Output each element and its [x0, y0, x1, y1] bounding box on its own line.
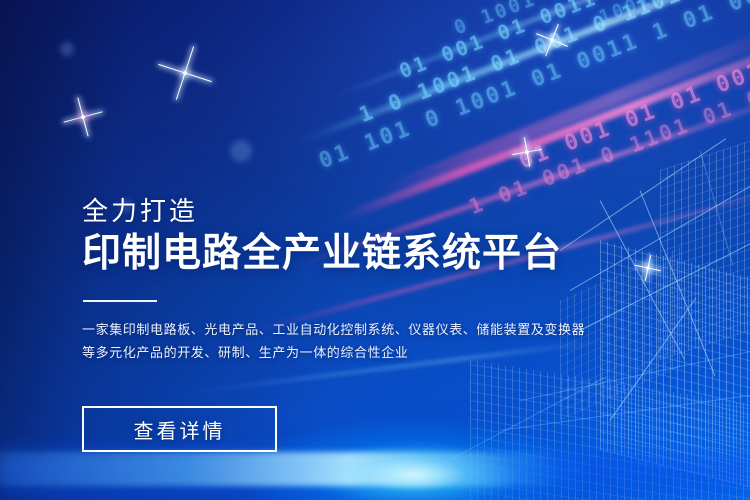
- divider-rule: [83, 300, 157, 302]
- headline-text: 印制电路全产业链系统平台: [82, 230, 682, 278]
- binary-row-cyan-3: 01 101 0 1001 01 0011 1 01 001: [316, 0, 750, 174]
- ray-magenta-4: [377, 29, 750, 199]
- light-streak: [0, 452, 560, 486]
- eyebrow-text: 全力打造: [82, 194, 682, 228]
- binary-row-cyan-4: 0 1001 01 101 001 0 1011 01 10: [451, 0, 750, 39]
- view-details-button[interactable]: 查看详情: [82, 406, 277, 452]
- hero-copy: 全力打造 印制电路全产业链系统平台 一家集印制电路板、光电产品、工业自动化控制系…: [82, 194, 682, 364]
- binary-row-cyan-2: 1 0 1001 01 001 0 1101 01 001 1: [356, 0, 750, 127]
- ray-cyan-1: [299, 0, 750, 145]
- wireframe-beam-10: [700, 150, 734, 266]
- star-sparkle-2: [59, 93, 108, 142]
- hero-banner: 01 001 01 0011 01 1001 0 10 01 1 0 1001 …: [0, 0, 750, 500]
- binary-row-magenta-1: 01 001 01 01 0011 1 001 01 01: [516, 0, 750, 174]
- ray-cyan-2: [329, 0, 750, 100]
- description-line-2: 等多元化产品的开发、研制、生产为一体的综合性企业: [82, 341, 682, 364]
- view-details-label: 查看详情: [134, 415, 226, 444]
- bokeh-dot-2: [230, 140, 252, 162]
- description-line-1: 一家集印制电路板、光电产品、工业自动化控制系统、仪器仪表、储能装置及变换器: [82, 318, 682, 341]
- binary-row-magenta-2: 1 01 001 0 1101 01 01 001 1 0: [466, 34, 750, 219]
- star-sparkle-3: [530, 18, 574, 62]
- star-sparkle-1: [150, 38, 221, 109]
- binary-row-cyan-1: 01 001 01 0011 01 1001 0 10 01: [396, 0, 750, 83]
- binary-row-cyan-5: 1001 0 1 01 0011 101 01 0 1001: [596, 0, 750, 28]
- star-sparkle-4: [510, 135, 545, 170]
- bokeh-dot-1: [60, 42, 74, 56]
